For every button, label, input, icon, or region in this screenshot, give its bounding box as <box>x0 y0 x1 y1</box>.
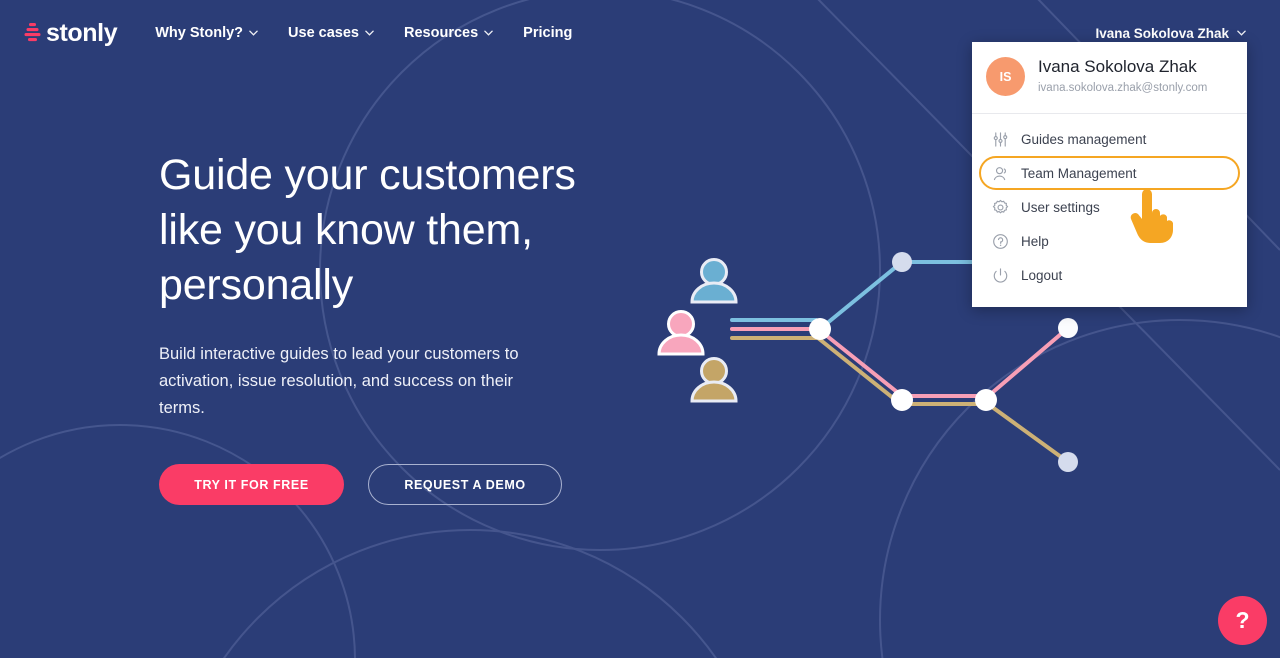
question-circle-icon <box>992 233 1009 250</box>
help-widget-button[interactable]: ? <box>1218 596 1267 645</box>
menu-item-logout[interactable]: Logout <box>972 258 1247 292</box>
chevron-down-icon <box>249 30 258 36</box>
user-email: ivana.sokolova.zhak@stonly.com <box>1038 79 1207 97</box>
try-it-for-free-button[interactable]: TRY IT FOR FREE <box>159 464 344 505</box>
node-hub <box>809 318 831 340</box>
nav-item-label: Pricing <box>523 25 572 41</box>
user-menu-trigger-label: Ivana Sokolova Zhak <box>1095 26 1229 41</box>
person-pink-icon <box>659 312 703 355</box>
nav-item-why-stonly[interactable]: Why Stonly? <box>155 25 258 41</box>
hero-title-line: like you know them, <box>159 206 533 254</box>
menu-item-label: Help <box>1021 234 1049 249</box>
nav-item-pricing[interactable]: Pricing <box>523 25 572 41</box>
nav-item-label: Resources <box>404 25 478 41</box>
node-right-lower <box>1058 452 1078 472</box>
sliders-icon <box>992 131 1009 148</box>
user-dropdown-header: IS Ivana Sokolova Zhak ivana.sokolova.zh… <box>972 42 1247 113</box>
chevron-down-icon <box>365 30 374 36</box>
hero-subtitle: Build interactive guides to lead your cu… <box>159 341 529 422</box>
avatar: IS <box>986 57 1025 96</box>
page-title: Guide your customers like you know them,… <box>159 148 629 313</box>
user-dropdown-items: Guides management Team Management User s… <box>972 114 1247 298</box>
person-blue-icon <box>692 260 736 303</box>
menu-item-label: Logout <box>1021 268 1062 283</box>
stonly-logo-icon <box>24 22 41 44</box>
menu-item-label: User settings <box>1021 200 1100 215</box>
node-mid-right <box>975 389 997 411</box>
node-mid-left <box>891 389 913 411</box>
hero-title-line: personally <box>159 261 353 309</box>
nav-item-label: Use cases <box>288 25 359 41</box>
chevron-down-icon <box>484 30 493 36</box>
nav-item-label: Why Stonly? <box>155 25 243 41</box>
request-a-demo-button[interactable]: REQUEST A DEMO <box>368 464 562 505</box>
question-mark-icon: ? <box>1235 607 1249 634</box>
power-icon <box>992 267 1009 284</box>
nav-links: Why Stonly? Use cases Resources Pricing <box>155 25 572 41</box>
user-name: Ivana Sokolova Zhak <box>1038 56 1207 77</box>
brand-logo[interactable]: stonly <box>24 21 117 46</box>
nav-item-use-cases[interactable]: Use cases <box>288 25 374 41</box>
chevron-down-icon <box>1237 30 1246 36</box>
menu-item-user-settings[interactable]: User settings <box>972 190 1247 224</box>
user-menu-trigger[interactable]: Ivana Sokolova Zhak <box>1095 26 1256 41</box>
menu-item-label: Guides management <box>1021 132 1146 147</box>
hero-title-line: Guide your customers <box>159 151 576 199</box>
hero-section: Guide your customers like you know them,… <box>159 148 629 505</box>
node-top <box>892 252 912 272</box>
nav-item-resources[interactable]: Resources <box>404 25 493 41</box>
person-icon <box>992 165 1009 182</box>
menu-item-guides-management[interactable]: Guides management <box>972 122 1247 156</box>
gear-icon <box>992 199 1009 216</box>
user-dropdown-menu: IS Ivana Sokolova Zhak ivana.sokolova.zh… <box>972 42 1247 307</box>
node-right-upper <box>1058 318 1078 338</box>
menu-item-help[interactable]: Help <box>972 224 1247 258</box>
person-gold-icon <box>692 359 736 402</box>
menu-item-label: Team Management <box>1021 166 1137 181</box>
hero-cta-group: TRY IT FOR FREE REQUEST A DEMO <box>159 464 629 505</box>
menu-item-team-management[interactable]: Team Management <box>979 156 1240 190</box>
brand-name: stonly <box>46 21 117 46</box>
